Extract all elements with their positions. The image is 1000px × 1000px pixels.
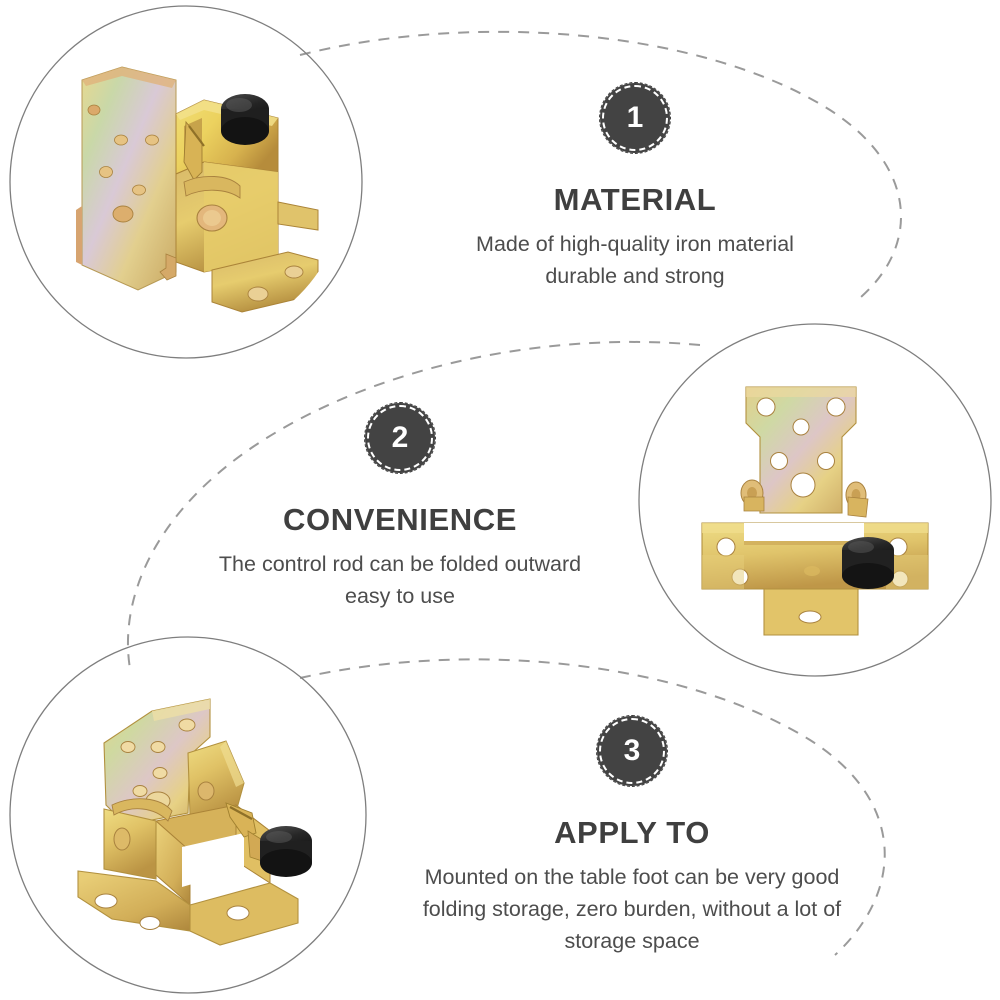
product-photo-2 [660, 345, 970, 655]
bracket-illustration-angled [26, 22, 346, 342]
feature-title-3: APPLY TO [362, 816, 902, 850]
step-number: 2 [392, 423, 409, 453]
feature-desc-3: Mounted on the table foot can be very go… [362, 862, 902, 957]
rubber-bumper-icon [260, 826, 312, 877]
feature-title-1: MATERIAL [370, 183, 900, 217]
rubber-bumper-icon [221, 94, 269, 145]
step-number: 3 [624, 736, 641, 766]
bracket-illustration-front [660, 345, 970, 655]
bracket-illustration-open [30, 655, 350, 975]
infographic-page: 1 MATERIAL Made of high-quality iron mat… [0, 0, 1000, 1000]
product-photo-1 [26, 22, 346, 342]
feature-block-3: 3 APPLY TO Mounted on the table foot can… [362, 718, 902, 958]
feature-title-2: CONVENIENCE [135, 503, 665, 537]
feature-desc-line: Mounted on the table foot can be very go… [362, 862, 902, 894]
feature-desc-2: The control rod can be folded outward ea… [135, 549, 665, 613]
step-number: 1 [627, 103, 644, 133]
feature-desc-line: The control rod can be folded outward [135, 549, 665, 581]
feature-desc-line: storage space [362, 926, 902, 958]
rubber-bumper-icon [842, 537, 894, 589]
feature-block-2: 2 CONVENIENCE The control rod can be fol… [135, 405, 665, 613]
step-badge-2: 2 [367, 405, 433, 471]
feature-desc-line: durable and strong [370, 261, 900, 293]
feature-desc-line: folding storage, zero burden, without a … [362, 894, 902, 926]
step-badge-1: 1 [602, 85, 668, 151]
step-badge-3: 3 [599, 718, 665, 784]
product-photo-3 [30, 655, 350, 975]
perforated-plate [76, 67, 176, 290]
feature-desc-line: easy to use [135, 581, 665, 613]
feature-block-1: 1 MATERIAL Made of high-quality iron mat… [370, 85, 900, 293]
feature-desc-1: Made of high-quality iron material durab… [370, 229, 900, 293]
base-channel [702, 523, 928, 589]
bottom-tab [764, 589, 858, 635]
feature-desc-line: Made of high-quality iron material [370, 229, 900, 261]
